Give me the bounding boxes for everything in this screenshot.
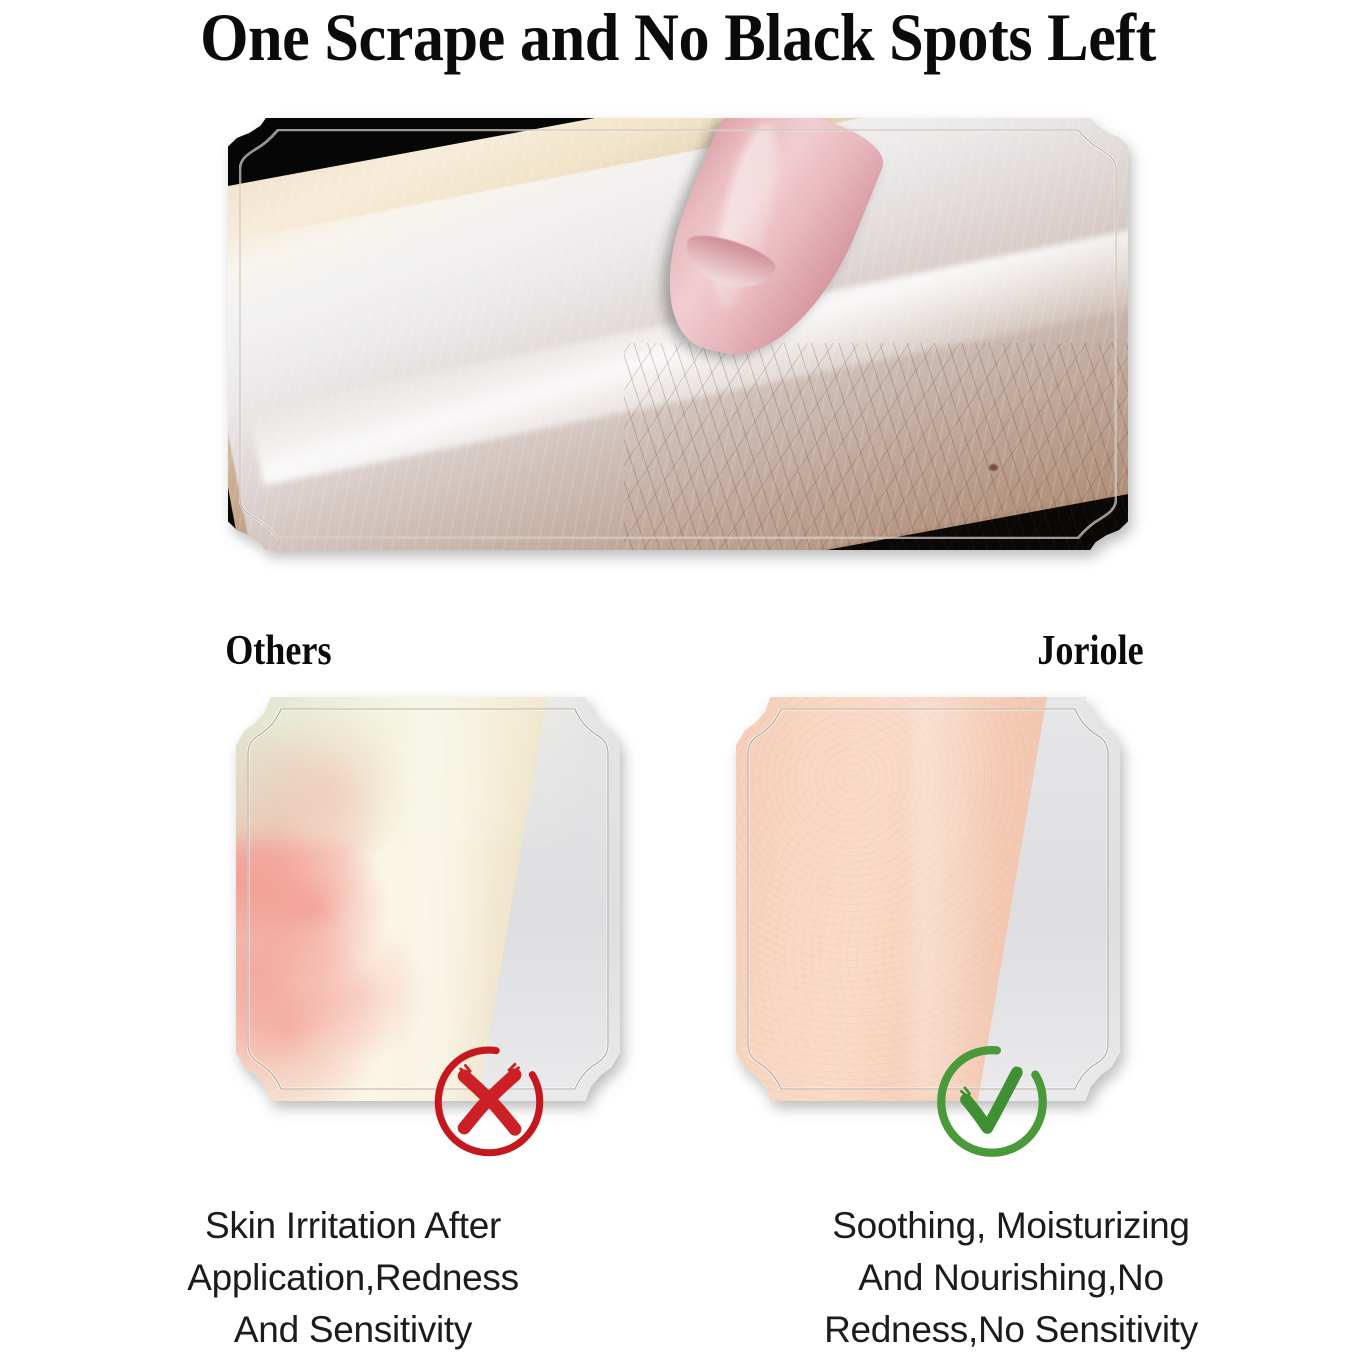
- comparison-panel-joriole: [736, 697, 1120, 1101]
- hero-photo: [228, 118, 1128, 550]
- others-soft-light-edge: [413, 697, 497, 1101]
- comparison-label-joriole: Joriole: [811, 625, 1315, 677]
- caption-joriole-line-3: Redness,No Sensitivity: [714, 1304, 1308, 1356]
- caption-joriole-line-1: Soothing, Moisturizing: [714, 1200, 1308, 1252]
- red-x-icon: [430, 1043, 548, 1161]
- hero-image-panel: [228, 118, 1128, 550]
- hero-body-hair-texture: [624, 343, 1128, 550]
- caption-others: Skin Irritation After Application,Rednes…: [0, 1200, 686, 1356]
- others-photo: [236, 697, 620, 1101]
- comparison-label-others: Others: [54, 625, 716, 677]
- caption-others-line-1: Skin Irritation After: [56, 1200, 650, 1252]
- page-title: One Scrape and No Black Spots Left: [58, 0, 1299, 78]
- joriole-photo: [736, 697, 1120, 1101]
- others-frame-shadow: [236, 697, 620, 1101]
- caption-joriole-line-2: And Nourishing,No: [714, 1252, 1308, 1304]
- others-light-glare: [236, 697, 582, 842]
- captions-row: Skin Irritation After Application,Rednes…: [0, 1200, 1356, 1356]
- hero-frame-shadow: [228, 118, 1128, 550]
- caption-joriole: Soothing, Moisturizing And Nourishing,No…: [686, 1200, 1356, 1356]
- joriole-frame-shadow: [736, 697, 1120, 1101]
- joriole-soft-light-edge: [913, 697, 997, 1101]
- comparison-labels-row: Others Joriole: [0, 625, 1356, 677]
- hero-skin-mark: [989, 464, 998, 471]
- caption-others-line-2: Application,Redness: [56, 1252, 650, 1304]
- green-check-icon: [933, 1043, 1051, 1161]
- comparison-panel-others: [236, 697, 620, 1101]
- caption-others-line-3: And Sensitivity: [56, 1304, 650, 1356]
